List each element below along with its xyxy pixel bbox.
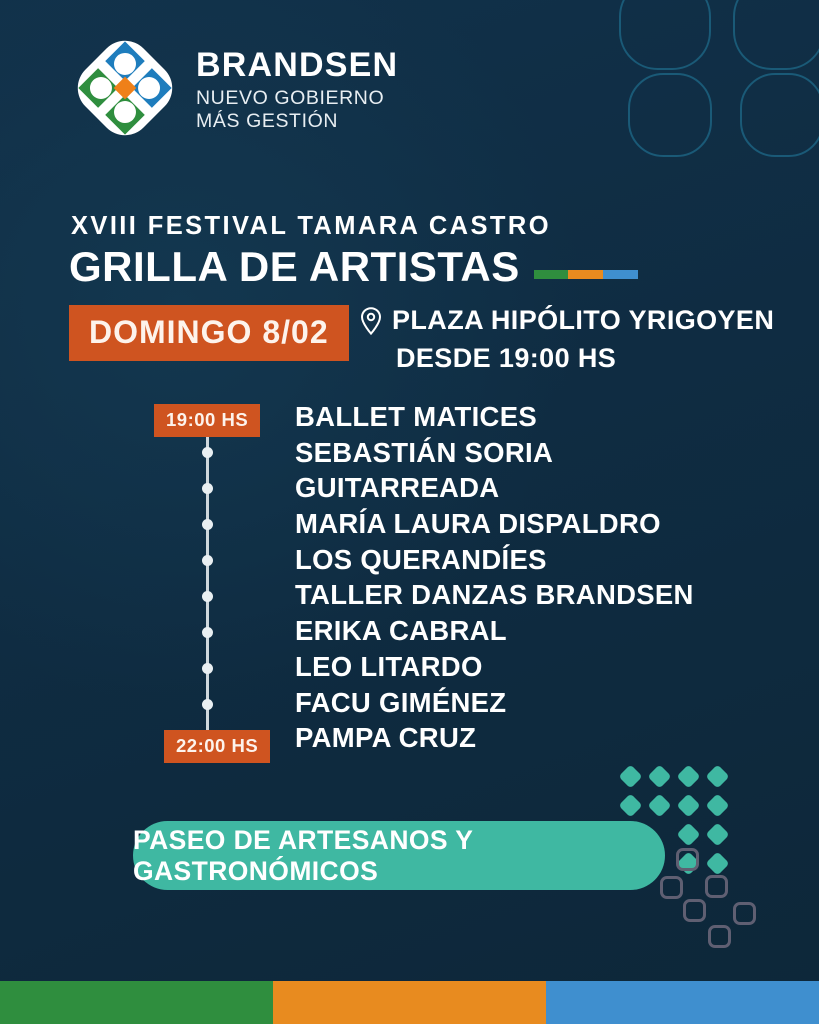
decor-rounded-square-icon xyxy=(733,902,756,925)
decor-diamond-icon xyxy=(705,793,729,817)
footer-color-bar xyxy=(0,981,819,1024)
timeline-dot xyxy=(202,447,213,458)
brand-tagline-line2: MÁS GESTIÓN xyxy=(196,110,398,133)
timeline-end-badge: 22:00 HS xyxy=(164,730,270,763)
festival-subtitle: XVIII FESTIVAL TAMARA CASTRO xyxy=(71,212,551,241)
artist-item: FACU GIMÉNEZ xyxy=(295,689,775,717)
timeline-dot xyxy=(202,483,213,494)
artist-item: LEO LITARDO xyxy=(295,653,775,681)
decor-rounded-square-icon xyxy=(683,899,706,922)
title-accent-bar xyxy=(534,270,638,279)
timeline-track xyxy=(206,432,209,732)
decor-diamond-icon xyxy=(618,793,642,817)
artist-item: MARÍA LAURA DISPALDRO xyxy=(295,510,775,538)
artist-item: BALLET MATICES xyxy=(295,403,775,431)
artist-item: ERIKA CABRAL xyxy=(295,617,775,645)
brand-name: BRANDSEN xyxy=(196,48,398,82)
footer-bar-orange xyxy=(273,981,546,1024)
decor-diamond-icon xyxy=(676,764,700,788)
artist-item: LOS QUERANDÍES xyxy=(295,546,775,574)
decor-diamond-icon xyxy=(618,764,642,788)
accent-bar-orange xyxy=(568,270,603,279)
artist-list: BALLET MATICES SEBASTIÁN SORIA GUITARREA… xyxy=(295,403,775,760)
decor-squircle-icon xyxy=(628,73,712,157)
brand-header: BRANDSEN NUEVO GOBIERNO MÁS GESTIÓN xyxy=(70,33,398,143)
artist-item: SEBASTIÁN SORIA xyxy=(295,439,775,467)
venue-row: PLAZA HIPÓLITO YRIGOYEN xyxy=(358,305,774,336)
artist-item: TALLER DANZAS BRANDSEN xyxy=(295,581,775,609)
timeline-dot xyxy=(202,627,213,638)
venue-start-time: DESDE 19:00 HS xyxy=(358,343,774,374)
timeline-start-badge: 19:00 HS xyxy=(154,404,260,437)
decor-diamond-icon xyxy=(647,764,671,788)
timeline-dot xyxy=(202,591,213,602)
decor-squircle-icon xyxy=(740,73,819,157)
decor-rounded-square-icon xyxy=(676,848,699,871)
map-pin-icon xyxy=(358,306,384,336)
decor-diamond-icon xyxy=(705,851,729,875)
brand-tagline: NUEVO GOBIERNO MÁS GESTIÓN xyxy=(196,87,398,133)
decor-squircle-icon xyxy=(733,0,819,70)
artisans-banner: PASEO DE ARTESANOS Y GASTRONÓMICOS xyxy=(133,821,665,890)
artist-item: GUITARREADA xyxy=(295,474,775,502)
decor-rounded-square-icon xyxy=(708,925,731,948)
decor-diamond-icon xyxy=(647,793,671,817)
decor-diamond-icon xyxy=(705,764,729,788)
decor-squircle-icon xyxy=(619,0,711,70)
decor-rounded-square-icon xyxy=(705,875,728,898)
footer-bar-blue xyxy=(546,981,819,1024)
decor-diamond-icon xyxy=(705,822,729,846)
poster-canvas: BRANDSEN NUEVO GOBIERNO MÁS GESTIÓN XVII… xyxy=(0,0,819,1024)
timeline-dot xyxy=(202,663,213,674)
footer-bar-green xyxy=(0,981,273,1024)
accent-bar-green xyxy=(534,270,569,279)
timeline-dot xyxy=(202,519,213,530)
date-badge: DOMINGO 8/02 xyxy=(69,305,349,361)
page-title-row: GRILLA DE ARTISTAS xyxy=(69,243,638,291)
page-title: GRILLA DE ARTISTAS xyxy=(69,243,520,291)
timeline-dot xyxy=(202,555,213,566)
timeline-dot xyxy=(202,699,213,710)
brand-tagline-line1: NUEVO GOBIERNO xyxy=(196,87,398,110)
brandsen-logo-icon xyxy=(70,33,180,143)
decor-diamond-icon xyxy=(676,793,700,817)
accent-bar-blue xyxy=(603,270,638,279)
artist-item: PAMPA CRUZ xyxy=(295,724,775,752)
decor-diamond-icon xyxy=(676,822,700,846)
venue-block: PLAZA HIPÓLITO YRIGOYEN DESDE 19:00 HS xyxy=(358,305,774,374)
venue-name: PLAZA HIPÓLITO YRIGOYEN xyxy=(392,305,774,336)
